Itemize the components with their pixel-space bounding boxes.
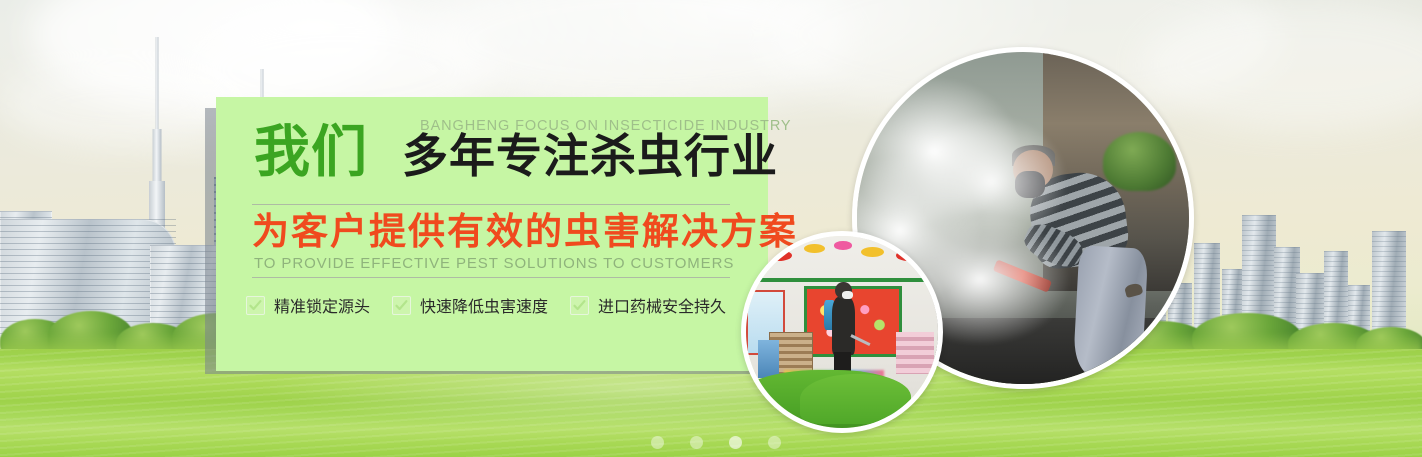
wall-decorations (746, 236, 938, 278)
carousel-dot-3[interactable] (729, 436, 742, 449)
face-mask-icon (842, 291, 853, 299)
hero-banner: BANGHENG FOCUS ON INSECTICIDE INDUSTRY 我… (0, 0, 1422, 457)
green-table (800, 374, 911, 424)
feature-list: 精准锁定源头 快速降低虫害速度 (246, 293, 726, 317)
feature-item-1[interactable]: 精准锁定源头 (246, 293, 370, 317)
sprayer-worker-figure (830, 282, 857, 382)
carousel-dot-1[interactable] (651, 436, 664, 449)
divider-top (252, 204, 730, 205)
subheadline-en: TO PROVIDE EFFECTIVE PEST SOLUTIONS TO C… (254, 255, 734, 272)
worker-body (832, 297, 855, 355)
feature-label: 进口药械安全持久 (598, 293, 726, 317)
pink-cabinet (896, 332, 934, 374)
feature-item-2[interactable]: 快速降低虫害速度 (392, 293, 548, 317)
blue-cabinet (758, 340, 779, 378)
carousel-dot-2[interactable] (690, 436, 703, 449)
carousel-pagination[interactable] (651, 436, 781, 449)
headline-main: 多年专注杀虫行业 (402, 133, 778, 179)
headline-highlight: 我们 (254, 124, 368, 180)
feature-item-3[interactable]: 进口药械安全持久 (570, 293, 726, 317)
headline-panel: BANGHENG FOCUS ON INSECTICIDE INDUSTRY 我… (216, 97, 768, 371)
checkbox-checked-icon (570, 296, 589, 315)
subheadline-cn: 为客户提供有效的虫害解决方案 (252, 213, 798, 250)
feature-label: 精准锁定源头 (274, 293, 370, 317)
carousel-dot-4[interactable] (768, 436, 781, 449)
feature-label: 快速降低虫害速度 (420, 293, 548, 317)
worker-shoe (1124, 283, 1143, 299)
classroom-spraying-photo (741, 231, 943, 433)
divider-bottom (252, 277, 730, 278)
checkbox-checked-icon (246, 296, 265, 315)
checkbox-checked-icon (392, 296, 411, 315)
